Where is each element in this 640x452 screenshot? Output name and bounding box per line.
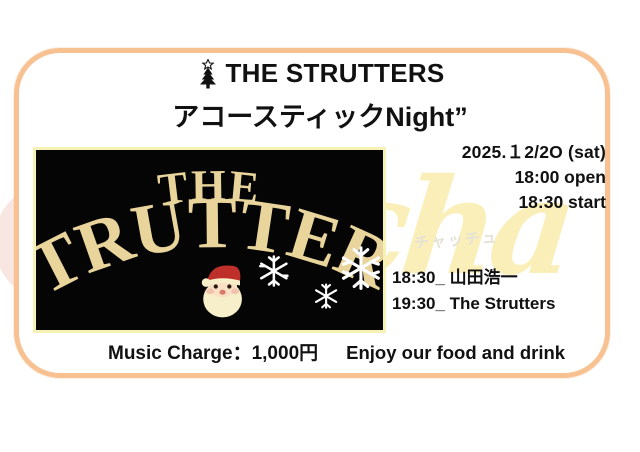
lineup-item: 18:30_ 山田浩一: [392, 265, 606, 291]
title-row: THE STRUTTERS: [0, 58, 640, 89]
footer-bar: Music Charge：1,000円 Enjoy our food and d…: [30, 338, 610, 365]
schedule-block: 2025.１2/2O (sat) 18:00 open 18:30 start: [392, 140, 606, 215]
event-flyer: cha チャッチュ THE STRUTTERS アコースティックNight” T…: [0, 0, 640, 452]
title-japanese: アコースティックNight”: [0, 95, 640, 134]
santa-claus-icon: [202, 265, 242, 317]
lineup-block: 18:30_ 山田浩一 19:30_ The Strutters: [392, 265, 606, 318]
event-date: 2025.１2/2O (sat): [392, 140, 606, 165]
title-english: THE STRUTTERS: [225, 58, 444, 89]
open-time: 18:00 open: [392, 165, 606, 190]
lineup-item: 19:30_ The Strutters: [392, 291, 606, 317]
logo-svg: THE STRUTTERS: [36, 150, 383, 330]
enjoy-message: Enjoy our food and drink: [346, 342, 565, 364]
headline: THE STRUTTERS アコースティックNight”: [0, 58, 640, 134]
christmas-tree-icon: [195, 59, 221, 89]
music-charge: Music Charge：1,000円: [108, 338, 318, 365]
start-time: 18:30 start: [392, 190, 606, 215]
band-logo-artwork: THE STRUTTERS: [33, 147, 386, 333]
